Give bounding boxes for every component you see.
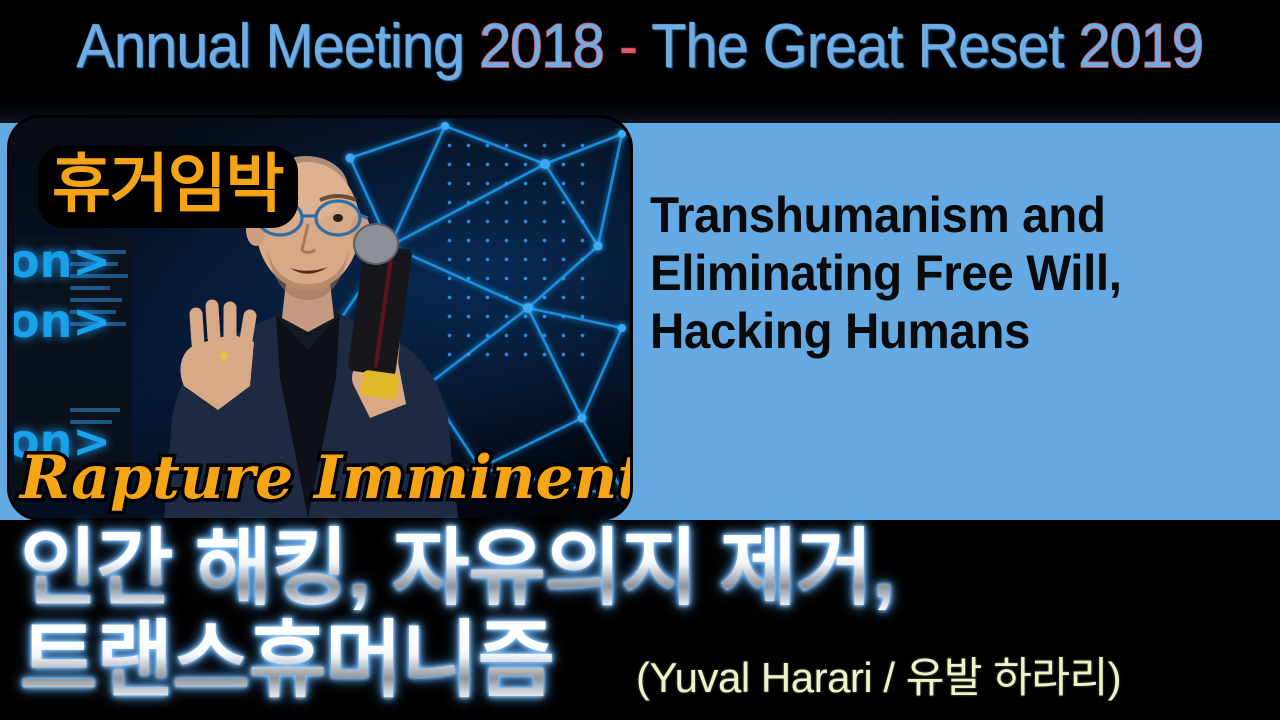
thumbnail-frame[interactable]: on> on> on> (10, 118, 630, 518)
headline-line-2: Eliminating Free Will, (650, 244, 1239, 302)
title-segment-2018: 2018 (479, 12, 604, 81)
top-title-text: Annual Meeting 2018 - The Great Reset 20… (77, 16, 1204, 84)
title-segment-dash: - (604, 12, 651, 81)
overlay-caption-korean: 휴거임박 (38, 146, 298, 228)
bottom-korean-line-1: 인간 해킹, 자유의지 제거, (20, 526, 895, 610)
byline-text: (Yuval Harari / 유발 하라리) (636, 644, 1121, 705)
title-segment-2019: 2019 (1079, 12, 1204, 81)
overlay-caption-rapture: Rapture Imminent (20, 447, 630, 510)
speaker-photo: on> on> on> (10, 118, 630, 518)
bottom-korean-line-2: 트랜스휴머니즘 (20, 618, 554, 702)
headline-line-1: Transhumanism and (650, 186, 1239, 244)
headline-text: Transhumanism and Eliminating Free Will,… (650, 186, 1239, 360)
headline-line-3: Hacking Humans (650, 302, 1239, 360)
title-segment-annual-meeting: Annual Meeting (77, 12, 480, 81)
top-title-bar: Annual Meeting 2018 - The Great Reset 20… (0, 0, 1280, 100)
title-segment-great-reset: The Great Reset (651, 12, 1078, 81)
bottom-caption-band: 인간 해킹, 자유의지 제거, 트랜스휴머니즘 (Yuval Harari / … (0, 520, 1280, 720)
